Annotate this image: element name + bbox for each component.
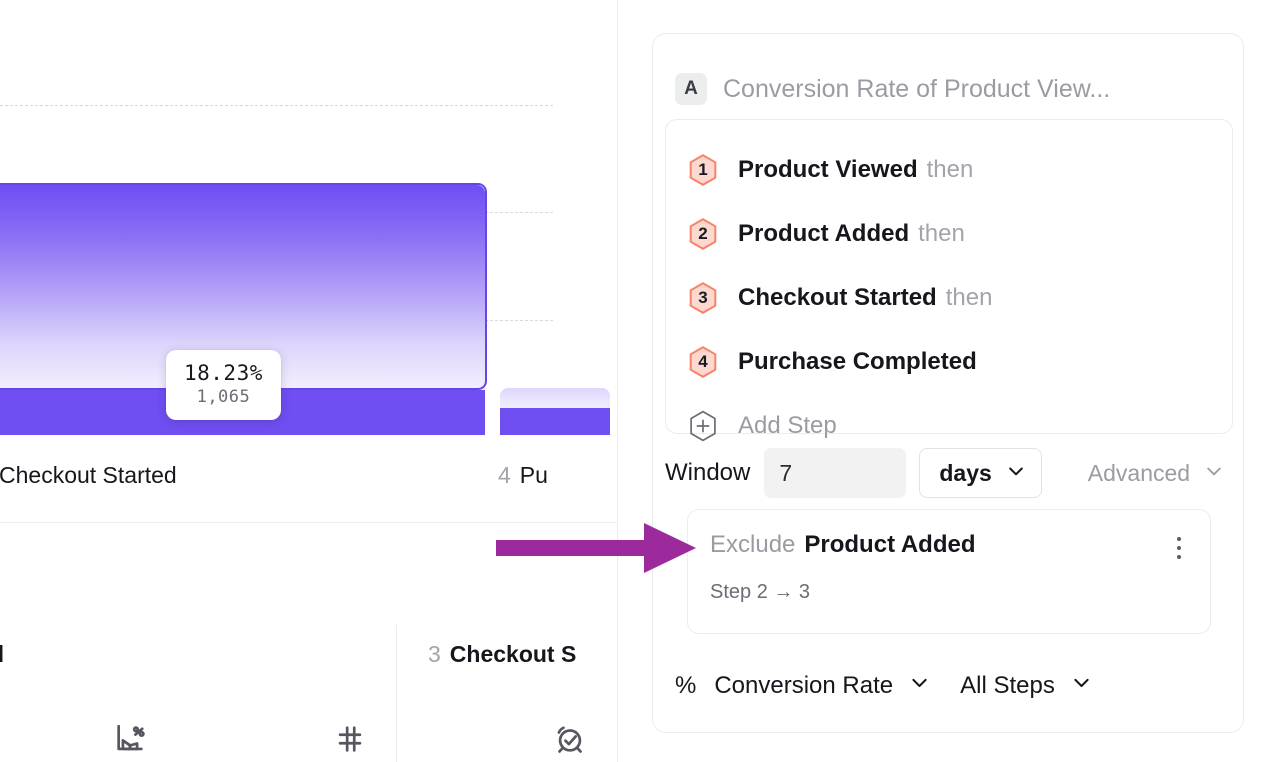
chart-plot-area: 18.23% 1,065	[0, 0, 617, 440]
exclusion-event: Product Added	[804, 531, 975, 558]
advanced-label: Advanced	[1088, 460, 1190, 487]
step-number-hex-icon: 4	[686, 345, 720, 379]
chevron-down-icon	[1071, 672, 1092, 700]
tooltip-count: 1,065	[184, 386, 263, 409]
legend-index: 3	[428, 641, 441, 667]
config-header: A Conversion Rate of Product View...	[653, 34, 1243, 122]
chevron-down-icon	[909, 672, 930, 700]
hash-icon[interactable]	[327, 716, 373, 762]
section-separator	[0, 522, 617, 523]
exclusion-title: ExcludeProduct Added	[710, 531, 1166, 559]
screenshot-root: 18.23% 1,065 Checkout Started 4Pu d 3Che…	[0, 0, 1264, 762]
chevron-down-icon	[1204, 460, 1224, 487]
panel-divider	[617, 0, 618, 762]
step-connector: then	[918, 220, 965, 247]
step-row[interactable]: 2 Product Addedthen	[686, 202, 1212, 266]
step-scope-value: All Steps	[960, 672, 1055, 700]
window-row: Window days Advanced	[665, 444, 1233, 502]
axis-label-index: 4	[498, 462, 511, 488]
step-number: 2	[686, 217, 720, 251]
step-event-name: Purchase Completed	[738, 348, 977, 375]
add-step-plus-hex-icon	[686, 409, 720, 443]
step-number: 4	[686, 345, 720, 379]
metric-letter-badge: A	[675, 73, 707, 105]
step-row[interactable]: 1 Product Viewedthen	[686, 138, 1212, 202]
step-row[interactable]: 4 Purchase Completed	[686, 330, 1212, 394]
legend-label: Checkout S	[450, 641, 577, 667]
column-divider	[396, 625, 397, 762]
legend-label: d	[0, 641, 4, 667]
step-row[interactable]: 3 Checkout Startedthen	[686, 266, 1212, 330]
window-label: Window	[665, 459, 750, 487]
chart-tooltip: 18.23% 1,065	[166, 350, 281, 420]
step-number: 1	[686, 153, 720, 187]
step-number: 3	[686, 281, 720, 315]
bar-purchase-completed[interactable]	[500, 388, 610, 435]
gridline	[0, 105, 553, 106]
metric-type-value: Conversion Rate	[714, 672, 893, 700]
exclusion-step-range: Step 2 → 3	[710, 581, 1192, 604]
exclusion-header: ExcludeProduct Added	[710, 531, 1192, 561]
step-number-hex-icon: 1	[686, 153, 720, 187]
axis-label-checkout-started: Checkout Started	[0, 462, 177, 489]
more-options-icon[interactable]	[1166, 531, 1192, 561]
clock-check-icon[interactable]	[547, 716, 593, 762]
axis-label-purchase-completed: 4Pu	[498, 462, 548, 489]
step-scope-select[interactable]: All Steps	[960, 672, 1092, 700]
metric-controls: % Conversion Rate All Steps	[675, 664, 1092, 708]
steps-card: 1 Product Viewedthen 2 Product Addedthen	[665, 119, 1233, 434]
step-number-hex-icon: 2	[686, 217, 720, 251]
legend-item-checkout-started[interactable]: 3Checkout S	[428, 641, 576, 668]
step-event-name: Product Added	[738, 220, 909, 247]
add-step-label: Add Step	[738, 412, 837, 440]
step-connector: then	[927, 156, 974, 183]
tooltip-percent: 18.23%	[184, 360, 263, 386]
exclusion-card[interactable]: ExcludeProduct Added Step 2 → 3	[687, 509, 1211, 634]
chevron-down-icon	[1006, 460, 1026, 487]
step-event-name: Product Viewed	[738, 156, 918, 183]
window-unit-select[interactable]: days	[919, 448, 1041, 498]
step-number-hex-icon: 3	[686, 281, 720, 315]
advanced-toggle[interactable]: Advanced	[1088, 460, 1224, 487]
percent-icon: %	[675, 672, 696, 700]
axis-label-text: Pu	[520, 462, 548, 488]
bar-solid-base	[500, 408, 610, 435]
window-unit-value: days	[939, 460, 991, 487]
metric-type-select[interactable]: Conversion Rate	[714, 672, 930, 700]
legend-item-left[interactable]: d	[0, 641, 4, 668]
config-title[interactable]: Conversion Rate of Product View...	[723, 75, 1110, 104]
exclusion-prefix: Exclude	[710, 531, 795, 558]
step-connector: then	[946, 284, 993, 311]
window-value-input[interactable]	[764, 448, 906, 498]
step-event-name: Checkout Started	[738, 284, 937, 311]
axis-label-text: Checkout Started	[0, 462, 177, 488]
percent-chart-icon[interactable]	[107, 716, 153, 762]
funnel-chart-panel: 18.23% 1,065 Checkout Started 4Pu d 3Che…	[0, 0, 617, 762]
funnel-config-panel: A Conversion Rate of Product View... 1 P…	[652, 33, 1244, 733]
